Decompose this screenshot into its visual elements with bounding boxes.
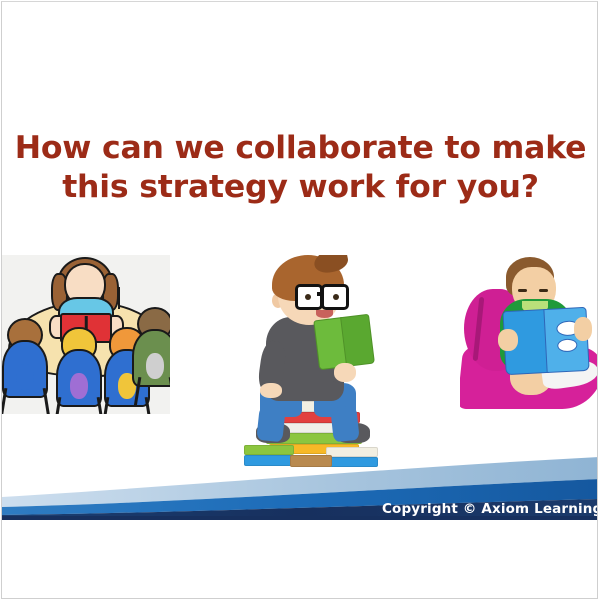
slide-page: How can we collaborate to make this stra… — [0, 0, 600, 600]
book-illustration — [557, 338, 578, 352]
boy-hand-right — [334, 363, 356, 382]
image-classroom-reading-circle — [2, 255, 170, 414]
boy-mouth — [316, 310, 333, 318]
chair-leg — [2, 388, 7, 414]
glasses-lens-right — [321, 284, 349, 310]
girl-eye — [518, 289, 527, 292]
stack-book — [244, 445, 294, 455]
chair-pad — [16, 364, 34, 390]
page-margin-bottom — [1, 527, 598, 599]
slide-title-line-1: How can we collaborate to make — [2, 130, 598, 167]
chair-pad — [146, 353, 164, 379]
girl-eye — [539, 289, 548, 292]
image-boy-reading-on-book-stack — [238, 255, 384, 467]
copyright-text: Copyright © Axiom Learning 2 — [382, 501, 598, 517]
girl-hand-left — [498, 329, 518, 351]
boy-eye — [333, 294, 339, 300]
boy-shin — [330, 406, 359, 443]
student-chair — [2, 340, 48, 398]
green-book — [313, 314, 374, 368]
boy-hand-left — [260, 383, 282, 398]
glasses-icon — [295, 284, 349, 304]
glasses-lens-left — [295, 284, 323, 310]
student-seated-right — [130, 307, 170, 407]
slide-title-line-2: this strategy work for you? — [2, 169, 598, 206]
slide-canvas: How can we collaborate to make this stra… — [1, 1, 598, 527]
student-chair — [56, 349, 102, 407]
chair-pad — [70, 373, 88, 399]
chair-leg — [169, 377, 170, 407]
slide-title: How can we collaborate to make this stra… — [2, 130, 598, 205]
image-girl-reading-on-cushion — [460, 257, 598, 415]
boy-eye — [305, 294, 311, 300]
classroom-scene — [2, 255, 170, 414]
girl-hand-right — [574, 317, 592, 341]
student-seated-left — [2, 318, 54, 414]
book-page-right — [340, 314, 375, 367]
boy-shin — [256, 406, 285, 443]
